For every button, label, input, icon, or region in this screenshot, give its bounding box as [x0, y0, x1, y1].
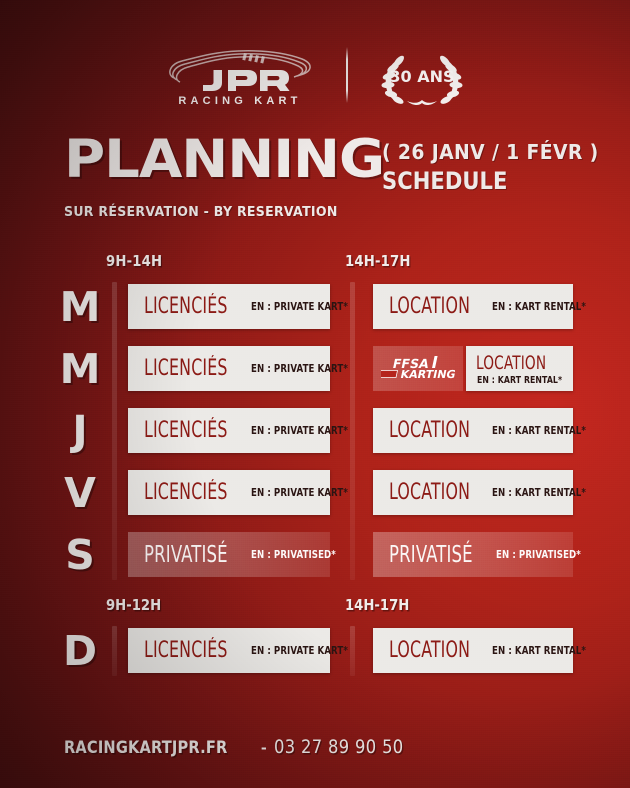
title-date-range: ( 26 JANV / 1 FÉVR ) [382, 140, 599, 164]
schedule-rows: M LICENCIÉS EN : PRIVATE KART* LOCATION … [0, 276, 630, 586]
slot-card-afternoon[interactable]: LOCATION EN : KART RENTAL* [373, 408, 573, 453]
slot-sublabel: EN : PRIVATE KART* [251, 363, 348, 375]
table-row: D LICENCIÉS EN : PRIVATE KART* LOCATION … [0, 620, 630, 682]
day-letter: M [58, 276, 102, 338]
slot-sublabel: EN : KART RENTAL* [492, 425, 586, 437]
page-title: PLANNING [64, 136, 384, 185]
sunday-column-header-afternoon: 14H-17H [345, 596, 409, 614]
slot-card-morning[interactable]: LICENCIÉS EN : PRIVATE KART* [128, 408, 330, 453]
slot-label: LOCATION [389, 638, 470, 663]
slot-label: LOCATION [389, 294, 470, 319]
footer-phone[interactable]: 03 27 89 90 50 [274, 736, 404, 758]
slot-label: LICENCIÉS [144, 638, 228, 663]
sunday-column-header-morning: 9H-12H [106, 596, 161, 614]
slot-card-afternoon[interactable]: LOCATION EN : KART RENTAL* [373, 470, 573, 515]
column-header-morning: 9H-14H [106, 252, 162, 270]
slot-sublabel: EN : PRIVATISED* [251, 549, 336, 561]
footer-website[interactable]: RACINGKARTJPR.FR [64, 738, 227, 758]
slot-card-afternoon[interactable]: LOCATION EN : KART RENTAL* [466, 346, 573, 391]
anniversary-badge-label: 30 ANS [389, 67, 454, 86]
slot-sublabel: EN : KART RENTAL* [492, 301, 586, 313]
jpr-racetrack-icon [160, 44, 320, 94]
slot-sublabel: EN : PRIVATE KART* [251, 301, 348, 313]
slot-label: LOCATION [389, 480, 470, 505]
slot-label: PRIVATISÉ [144, 542, 228, 568]
slot-label: LOCATION [389, 418, 470, 443]
slot-sublabel: EN : PRIVATE KART* [251, 487, 348, 499]
schedule-grid: 9H-14H 14H-17H M LICENCIÉS EN : PRIVATE … [0, 252, 630, 682]
ffsa-karting-badge[interactable]: FFSA KARTING [373, 346, 463, 391]
day-letter: S [58, 524, 102, 586]
footer-contact: RACINGKARTJPR.FR - 03 27 89 90 50 [64, 736, 424, 758]
jpr-logo: RACING KART [160, 44, 320, 107]
slot-sublabel: EN : PRIVATE KART* [251, 645, 348, 657]
table-row: M LICENCIÉS EN : PRIVATE KART* FFSA KART… [0, 338, 630, 400]
slot-card-morning[interactable]: LICENCIÉS EN : PRIVATE KART* [128, 284, 330, 329]
slot-card-morning[interactable]: LICENCIÉS EN : PRIVATE KART* [128, 470, 330, 515]
ffsa-logo-icon: FFSA KARTING [381, 354, 455, 384]
slot-label: LOCATION [476, 352, 546, 374]
logo-divider [346, 47, 348, 103]
anniversary-badge: 30 ANS [374, 44, 470, 106]
sunday-rows: D LICENCIÉS EN : PRIVATE KART* LOCATION … [0, 620, 630, 682]
slot-sublabel: EN : KART RENTAL* [492, 487, 586, 499]
slot-sublabel: EN : PRIVATISED* [496, 549, 581, 561]
day-letter: V [58, 462, 102, 524]
schedule-poster: RACING KART [0, 0, 630, 788]
title-block: PLANNING ( 26 JANV / 1 FÉVR ) SCHEDULE S… [64, 136, 584, 220]
slot-sublabel: EN : KART RENTAL* [477, 375, 562, 386]
slot-card-morning[interactable]: LICENCIÉS EN : PRIVATE KART* [128, 628, 330, 673]
slot-card-morning[interactable]: PRIVATISÉ EN : PRIVATISED* [128, 532, 330, 577]
slot-card-morning[interactable]: LICENCIÉS EN : PRIVATE KART* [128, 346, 330, 391]
jpr-logo-tagline: RACING KART [178, 95, 301, 107]
ffsa-logo-line2: KARTING [399, 368, 455, 381]
slot-card-afternoon[interactable]: LOCATION EN : KART RENTAL* [373, 628, 573, 673]
slot-card-afternoon[interactable]: PRIVATISÉ EN : PRIVATISED* [373, 532, 573, 577]
reservation-note: SUR RÉSERVATION - BY RESERVATION [64, 204, 548, 220]
title-translation: SCHEDULE [382, 167, 585, 195]
day-letter: D [58, 620, 102, 682]
column-header-afternoon: 14H-17H [345, 252, 411, 270]
slot-label: LICENCIÉS [144, 294, 228, 319]
table-row: S PRIVATISÉ EN : PRIVATISED* PRIVATISÉ E… [0, 524, 630, 586]
column-headers: 9H-14H 14H-17H [0, 252, 630, 276]
slot-label: LICENCIÉS [144, 480, 228, 505]
slot-label: PRIVATISÉ [389, 542, 473, 568]
footer-separator: - [261, 738, 267, 758]
slot-sublabel: EN : PRIVATE KART* [251, 425, 348, 437]
slot-card-afternoon[interactable]: LOCATION EN : KART RENTAL* [373, 284, 573, 329]
table-row: J LICENCIÉS EN : PRIVATE KART* LOCATION … [0, 400, 630, 462]
table-row: M LICENCIÉS EN : PRIVATE KART* LOCATION … [0, 276, 630, 338]
slot-label: LICENCIÉS [144, 356, 228, 381]
day-letter: M [58, 338, 102, 400]
sunday-column-headers: 9H-12H 14H-17H [0, 596, 630, 620]
slot-label: LICENCIÉS [144, 418, 228, 443]
header-logo-bar: RACING KART [0, 36, 630, 114]
day-letter: J [58, 400, 102, 462]
table-row: V LICENCIÉS EN : PRIVATE KART* LOCATION … [0, 462, 630, 524]
slot-sublabel: EN : KART RENTAL* [492, 645, 586, 657]
